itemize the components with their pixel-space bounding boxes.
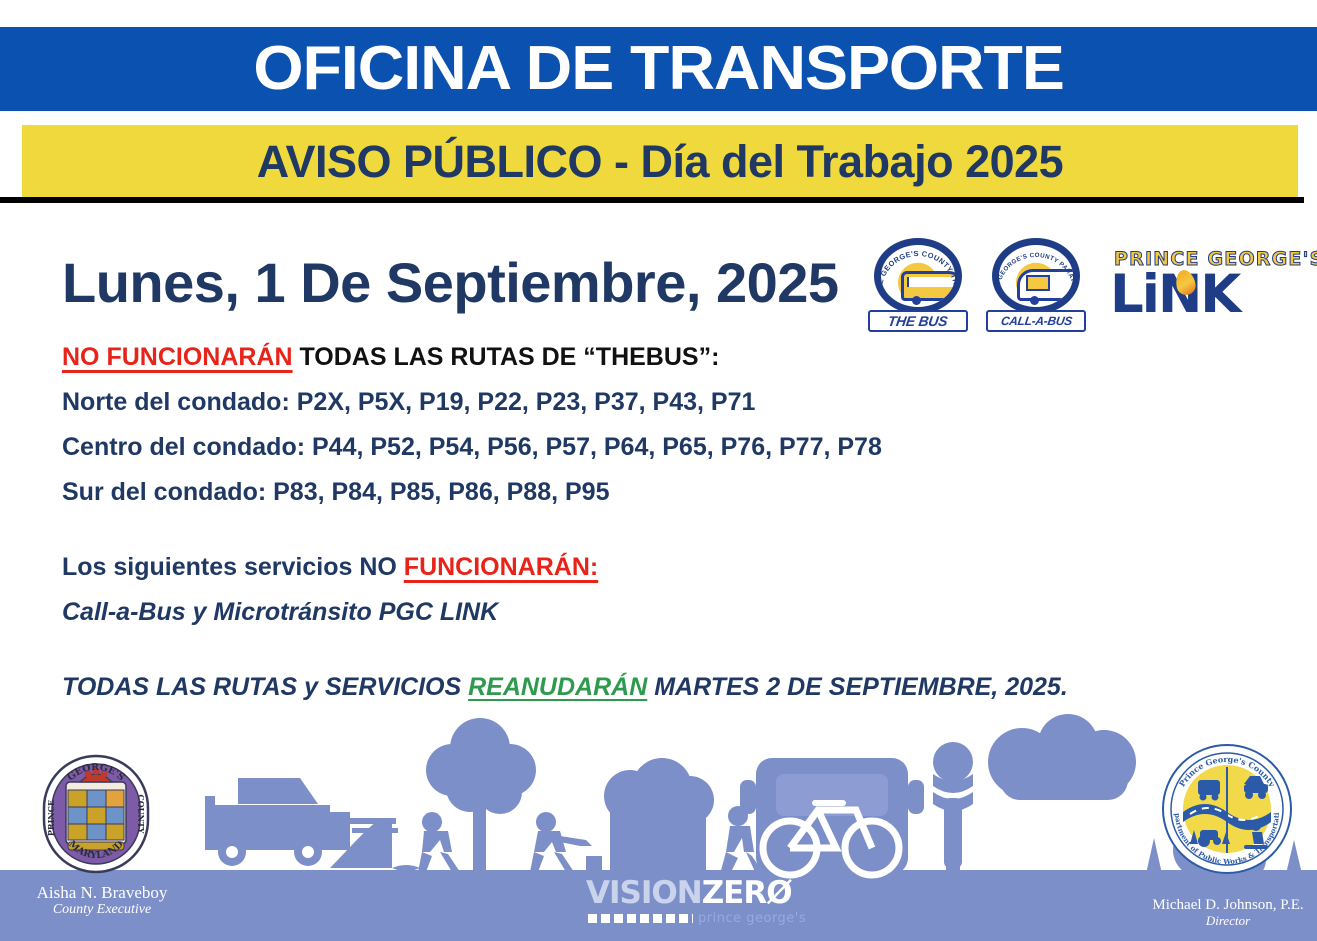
routes-south-region: Sur del condado:	[62, 478, 273, 506]
the-bus-logo: PRINCE GEORGE'S COUNTY TRANSIT THE BUS	[866, 236, 970, 332]
pgc-link-logo: PRINCE GEORGE'S LiNK	[1108, 242, 1264, 326]
resume-pre: TODAS LAS RUTAS y SERVICIOS	[62, 673, 468, 701]
snow-cloud-silhouette	[988, 714, 1136, 800]
call-a-bus-label: CALL-A-BUS	[1000, 314, 1073, 328]
vision-zero-logo: VISIONZERØ prince george's	[586, 878, 806, 934]
director-signature: Michael D. Johnson, P.E. Director	[1128, 898, 1317, 928]
county-executive-signature: Aisha N. Braveboy County Executive	[12, 884, 192, 917]
county-executive-role: County Executive	[12, 902, 192, 917]
routes-north: Norte del condado: P2X, P5X, P19, P22, P…	[62, 390, 1062, 415]
vision-zero-part2: ZERØ	[702, 875, 792, 911]
agency-logos: PRINCE GEORGE'S COUNTY TRANSIT THE BUS P…	[866, 234, 1286, 334]
resume-post: MARTES 2 DE SEPTIEMBRE, 2025.	[647, 673, 1068, 701]
worker-sweeping-silhouette	[418, 812, 460, 872]
county-seal-left-text: PRINCE	[46, 800, 56, 836]
routes-south-list: P83, P84, P85, P86, P88, P95	[273, 478, 609, 506]
not-running-emphasis: NO FUNCIONARÁN	[62, 343, 293, 371]
copy-spacer-2	[62, 655, 1062, 675]
service-date-title: Lunes, 1 De Septiembre, 2025	[62, 250, 839, 315]
puddle-silhouette	[392, 865, 420, 871]
vision-zero-wordmark: VISIONZERØ	[586, 878, 806, 909]
header-divider-rule	[0, 197, 1304, 203]
office-title: OFICINA DE TRANSPORTE	[253, 38, 1063, 100]
snowflakes	[998, 804, 1134, 870]
services-list: Call-a-Bus y Microtránsito PGC LINK	[62, 600, 1062, 625]
notice-body: NO FUNCIONARÁN TODAS LAS RUTAS DE “THEBU…	[62, 345, 1062, 720]
notice-title: AVISO PÚBLICO - Día del Trabajo 2025	[257, 139, 1063, 184]
routes-central-list: P44, P52, P54, P56, P57, P64, P65, P76, …	[312, 433, 882, 461]
bus-icon	[901, 271, 962, 301]
tree-silhouette	[426, 718, 536, 873]
call-a-bus-label-plate: CALL-A-BUS	[986, 310, 1086, 332]
copy-spacer	[62, 535, 1062, 555]
services-intro: Los siguientes servicios NO FUNCIONARÁN:	[62, 555, 1062, 580]
county-seal: GEORGE'S MARYLAND PRINCE COUNTY	[36, 752, 156, 877]
director-role: Director	[1128, 914, 1317, 928]
county-seal-svg: GEORGE'S MARYLAND PRINCE COUNTY	[36, 752, 156, 877]
vision-zero-subline: prince george's	[586, 911, 806, 925]
director-name: Michael D. Johnson, P.E.	[1128, 898, 1317, 914]
not-running-rest: TODAS LAS RUTAS DE “THEBUS”:	[293, 343, 720, 371]
services-intro-pre: Los siguientes servicios NO	[62, 553, 404, 581]
van-icon	[1017, 269, 1080, 301]
vision-zero-dash-bar	[588, 914, 693, 923]
county-seal-right-text: COUNTY	[136, 794, 146, 834]
resume-statement: TODAS LAS RUTAS y SERVICIOS REANUDARÁN M…	[62, 675, 1062, 700]
vision-zero-part1: VISION	[586, 875, 702, 911]
call-a-bus-badge-ring	[992, 238, 1080, 314]
routes-central: Centro del condado: P44, P52, P54, P56, …	[62, 435, 1062, 460]
the-bus-label-plate: THE BUS	[868, 310, 968, 332]
resume-emphasis: REANUDARÁN	[468, 673, 647, 701]
dpwt-seal: Prince George's County Department of Pub…	[1160, 742, 1295, 877]
notice-title-bar: AVISO PÚBLICO - Día del Trabajo 2025	[22, 125, 1298, 197]
the-bus-label: THE BUS	[887, 313, 949, 329]
county-executive-name: Aisha N. Braveboy	[12, 884, 192, 902]
routes-south: Sur del condado: P83, P84, P85, P86, P88…	[62, 480, 1062, 505]
worker-blower-silhouette	[530, 812, 602, 874]
routes-north-region: Norte del condado:	[62, 388, 297, 416]
the-bus-badge-ring	[874, 238, 962, 314]
services-intro-emphasis: FUNCIONARÁN:	[404, 553, 598, 581]
vision-zero-subtitle: prince george's	[698, 911, 806, 926]
routes-central-region: Centro del condado:	[62, 433, 312, 461]
routes-north-list: P2X, P5X, P19, P22, P23, P37, P43, P71	[297, 388, 756, 416]
bush-silhouette	[604, 758, 714, 874]
not-running-heading: NO FUNCIONARÁN TODAS LAS RUTAS DE “THEBU…	[62, 345, 1062, 370]
call-a-bus-logo: PRINCE GEORGE'S COUNTY PARATRANSIT CALL-…	[984, 236, 1088, 332]
bicycle-details	[812, 800, 846, 806]
plow-truck-silhouette	[205, 778, 398, 868]
pgc-link-word: LiNK	[1110, 268, 1239, 321]
silhouette-scene	[0, 700, 1317, 900]
traffic-light-silhouette	[933, 742, 973, 876]
office-title-bar: OFICINA DE TRANSPORTE	[0, 27, 1317, 111]
dpwt-seal-svg: Prince George's County Department of Pub…	[1160, 742, 1295, 877]
